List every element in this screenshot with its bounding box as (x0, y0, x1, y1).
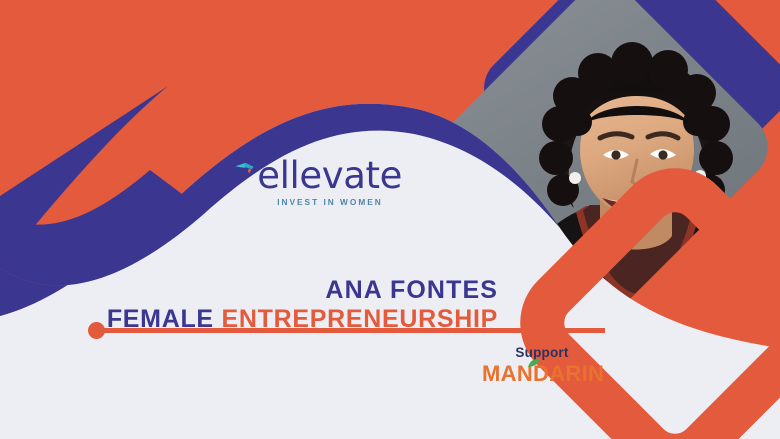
speaker-name: ANA FONTES (325, 276, 498, 305)
background-artwork (0, 0, 780, 439)
talk-title-highlight: ENTREPRENEURSHIP (221, 305, 498, 333)
talk-title-prefix: FEMALE (107, 305, 214, 333)
hummingbird-icon (232, 148, 255, 192)
slide-canvas: ellevate INVEST IN WOMEN ANA FONTES FEMA… (0, 0, 780, 439)
support-block: Support MANDARIN (482, 345, 602, 387)
ellevate-logo: ellevate INVEST IN WOMEN (232, 148, 402, 207)
leaf-icon (527, 358, 541, 368)
bullet-dot-icon (88, 322, 105, 339)
logo-tagline: INVEST IN WOMEN (232, 197, 402, 207)
sponsor-name: MANDARIN (482, 361, 604, 386)
talk-title: FEMALE ENTREPRENEURSHIP (107, 305, 498, 334)
support-label: Support (482, 345, 602, 360)
logo-wordmark: ellevate (257, 160, 402, 192)
